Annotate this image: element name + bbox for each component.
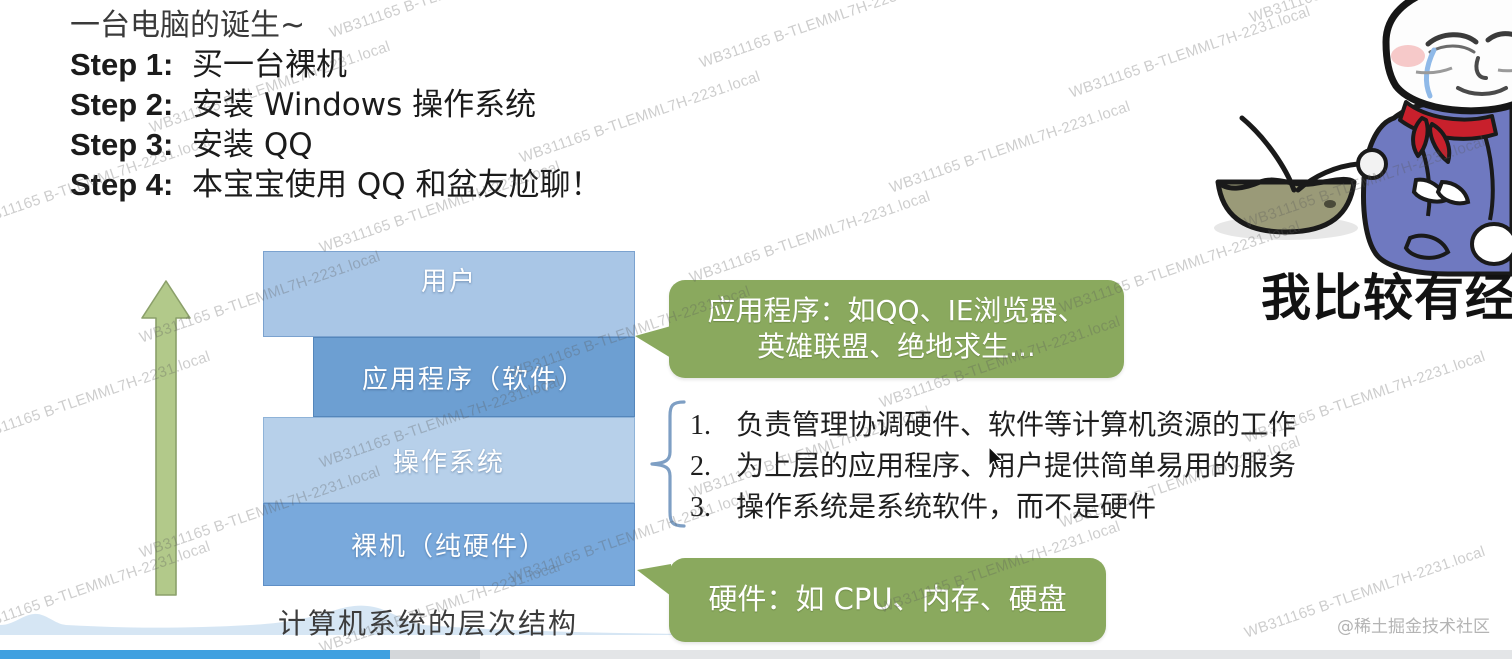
step-label-1: Step 1: (70, 45, 192, 85)
step-row-1: Step 1: 买一台裸机 (70, 45, 602, 85)
step-text-3: 安装 QQ (192, 125, 313, 165)
progress-played (0, 650, 390, 659)
site-watermark: @稀土掘金技术社区 (1337, 612, 1490, 637)
slide-title: 一台电脑的诞生~ (70, 8, 602, 45)
slide-canvas: 一台电脑的诞生~ Step 1: 买一台裸机 Step 2: 安装 Window… (0, 0, 1512, 659)
os-note-number-3: 3. (690, 488, 736, 528)
step-row-3: Step 3: 安装 QQ (70, 125, 602, 165)
layer-user: 用户 (263, 251, 635, 337)
watermark-text: WB311165 B-TLEMML7H-2231.local (687, 188, 932, 287)
layer-application: 应用程序（软件） (313, 337, 635, 417)
up-arrow-icon (140, 278, 192, 598)
layer-hardware: 裸机（纯硬件） (263, 503, 635, 586)
os-note-3: 3. 操作系统是系统软件，而不是硬件 (690, 487, 1296, 528)
step-label-3: Step 3: (70, 125, 192, 165)
step-list: 一台电脑的诞生~ Step 1: 买一台裸机 Step 2: 安装 Window… (70, 8, 602, 206)
layer-application-label: 应用程序（软件） (362, 359, 586, 396)
os-note-text-1: 负责管理协调硬件、软件等计算机资源的工作 (736, 405, 1296, 445)
os-note-number-2: 2. (690, 447, 736, 487)
hardware-callout-line-1: 硬件：如 CPU、内存、硬盘 (708, 581, 1066, 618)
video-progress-bar[interactable] (0, 650, 1512, 659)
hardware-callout: 硬件：如 CPU、内存、硬盘 (669, 558, 1106, 642)
step-text-1: 买一台裸机 (192, 45, 347, 85)
step-label-2: Step 2: (70, 85, 192, 125)
layer-os: 操作系统 (263, 417, 635, 503)
step-row-4: Step 4: 本宝宝使用 QQ 和盆友尬聊！ (70, 165, 602, 205)
meme-caption: 我比较有经 (1261, 258, 1512, 330)
application-callout: 应用程序：如QQ、IE浏览器、 英雄联盟、绝地求生... (669, 280, 1124, 378)
curly-brace-icon (650, 400, 686, 528)
step-row-2: Step 2: 安装 Windows 操作系统 (70, 85, 602, 125)
application-callout-line-1: 应用程序：如QQ、IE浏览器、 (707, 293, 1085, 329)
os-note-text-2: 为上层的应用程序、用户提供简单易用的服务 (736, 446, 1296, 486)
application-callout-line-2: 英雄联盟、绝地求生... (757, 329, 1036, 365)
step-label-4: Step 4: (70, 165, 192, 205)
os-note-number-1: 1. (690, 406, 736, 446)
diagram-caption: 计算机系统的层次结构 (278, 602, 578, 642)
os-note-1: 1. 负责管理协调硬件、软件等计算机资源的工作 (690, 405, 1296, 446)
os-note-text-3: 操作系统是系统软件，而不是硬件 (736, 487, 1156, 527)
layer-hardware-label: 裸机（纯硬件） (351, 526, 547, 563)
mouse-cursor (988, 446, 1006, 472)
watermark-text: WB311165 B-TLEMML7H-2231.local (697, 0, 942, 72)
step-text-2: 安装 Windows 操作系统 (192, 85, 536, 125)
step-text-4: 本宝宝使用 QQ 和盆友尬聊！ (192, 165, 602, 205)
layer-os-label: 操作系统 (393, 442, 505, 479)
layer-user-label: 用户 (421, 261, 477, 298)
watermark-text: WB311165 B-TLEMML7H-2231.local (887, 98, 1132, 197)
layer-stack: 用户 操作系统 裸机（纯硬件） 应用程序（软件） (263, 251, 635, 586)
